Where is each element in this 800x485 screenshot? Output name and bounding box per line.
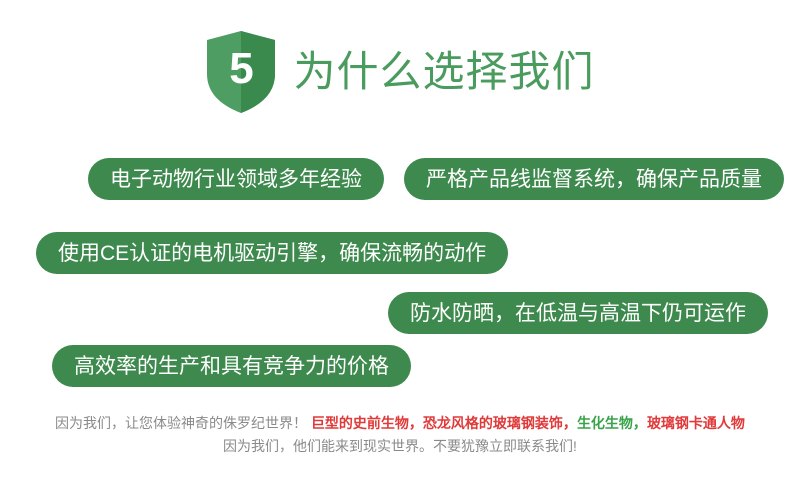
shield-badge: 5 — [205, 30, 277, 114]
footer-text: 因为我们，让您体验神奇的侏罗纪世界！ 巨型的史前生物，恐龙风格的玻璃钢装饰，生化… — [0, 412, 800, 458]
feature-pill-3[interactable]: 使用CE认证的电机驱动引擎，确保流畅的动作 — [36, 232, 508, 274]
promo-page: 5 为什么选择我们 电子动物行业领域多年经验 严格产品线监督系统，确保产品质量 … — [0, 0, 800, 485]
footer-line-2: 因为我们，他们能来到现实世界。不要犹豫立即联系我们! — [0, 435, 800, 458]
feature-pill-2-label: 严格产品线监督系统，确保产品质量 — [426, 169, 762, 190]
footer-line-1: 因为我们，让您体验神奇的侏罗纪世界！ 巨型的史前生物，恐龙风格的玻璃钢装饰，生化… — [0, 412, 800, 435]
text-segment-1: 因为我们，他们能来到现实世界。不要犹豫立即联系我们! — [223, 438, 577, 454]
feature-pill-1-label: 电子动物行业领域多年经验 — [110, 169, 362, 190]
feature-pill-4-label: 防水防晒，在低温与高温下仍可运作 — [410, 303, 746, 324]
page-title: 为什么选择我们 — [293, 51, 594, 93]
feature-pill-1[interactable]: 电子动物行业领域多年经验 — [88, 158, 384, 200]
feature-pill-4[interactable]: 防水防晒，在低温与高温下仍可运作 — [388, 292, 768, 334]
feature-pill-5[interactable]: 高效率的生产和具有竞争力的价格 — [52, 345, 411, 387]
page-header: 5 为什么选择我们 — [0, 26, 800, 118]
text-segment-4: 玻璃钢卡通人物 — [647, 415, 745, 431]
text-segment-2: 巨型的史前生物，恐龙风格的玻璃钢装饰， — [311, 415, 577, 431]
text-segment-1: 因为我们，让您体验神奇的侏罗纪世界！ — [55, 415, 311, 431]
feature-pill-5-label: 高效率的生产和具有竞争力的价格 — [74, 356, 389, 377]
feature-pill-2[interactable]: 严格产品线监督系统，确保产品质量 — [404, 158, 784, 200]
badge-number: 5 — [205, 30, 277, 114]
text-segment-3: 生化生物， — [577, 415, 647, 431]
feature-pill-3-label: 使用CE认证的电机驱动引擎，确保流畅的动作 — [58, 243, 486, 264]
